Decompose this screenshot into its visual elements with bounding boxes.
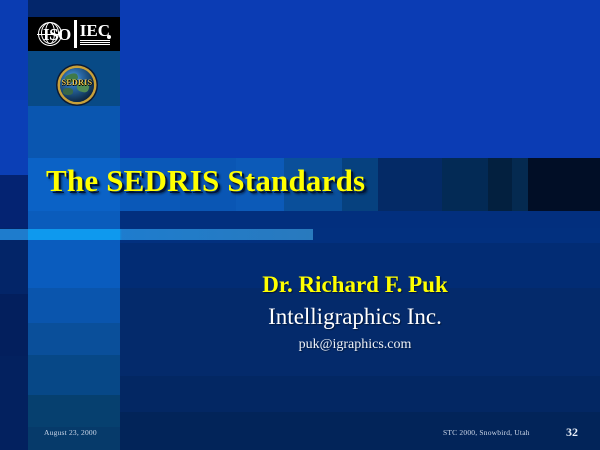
accent-column-row	[28, 323, 120, 355]
accent-column-row	[28, 0, 120, 17]
iec-mark: IEC	[80, 22, 110, 46]
presentation-slide: ISO IEC SEDRIS The SEDRIS Standards Dr. …	[0, 0, 600, 450]
accent-column-row	[28, 395, 120, 427]
presenter-name: Dr. Richard F. Puk	[120, 272, 590, 298]
title-band-segment	[488, 158, 512, 211]
accent-column-row	[28, 355, 120, 395]
accent-column-row	[28, 288, 120, 323]
email-address: puk@igraphics.com	[120, 336, 590, 354]
title-band-segment	[442, 158, 488, 211]
iec-dot-icon	[107, 35, 111, 39]
footer-event: STC 2000, Snowbird, Utah	[443, 428, 530, 437]
left-margin-row	[0, 0, 28, 100]
accent-column-row	[28, 211, 120, 229]
byline-block: Dr. Richard F. Puk Intelligraphics Inc. …	[120, 272, 590, 355]
sedris-logo: SEDRIS	[60, 68, 94, 102]
left-margin-row	[0, 100, 28, 175]
footer-date: August 23, 2000	[44, 428, 97, 437]
logo-divider	[74, 20, 77, 48]
sedris-logo-text: SEDRIS	[60, 79, 94, 87]
iso-mark: ISO	[38, 17, 71, 51]
footer-page-number: 32	[566, 425, 578, 440]
title-band-segment	[378, 158, 442, 211]
iec-underline-bars-icon	[80, 40, 110, 46]
accent-column-row	[28, 240, 120, 288]
company-name: Intelligraphics Inc.	[120, 301, 590, 332]
globe-landmass-icon	[63, 88, 73, 95]
left-margin-row	[0, 294, 28, 356]
iso-iec-logo: ISO IEC	[28, 17, 120, 51]
background-left-margin	[0, 0, 28, 450]
iec-logo-text: IEC	[80, 22, 110, 39]
left-margin-row	[0, 175, 28, 228]
globe-icon	[38, 22, 62, 46]
accent-column-row	[28, 106, 120, 158]
left-margin-row	[0, 356, 28, 450]
slide-title: The SEDRIS Standards	[46, 163, 365, 199]
title-band-segment	[528, 158, 600, 211]
accent-bar-highlight	[28, 229, 120, 240]
title-band-segment	[512, 158, 528, 211]
